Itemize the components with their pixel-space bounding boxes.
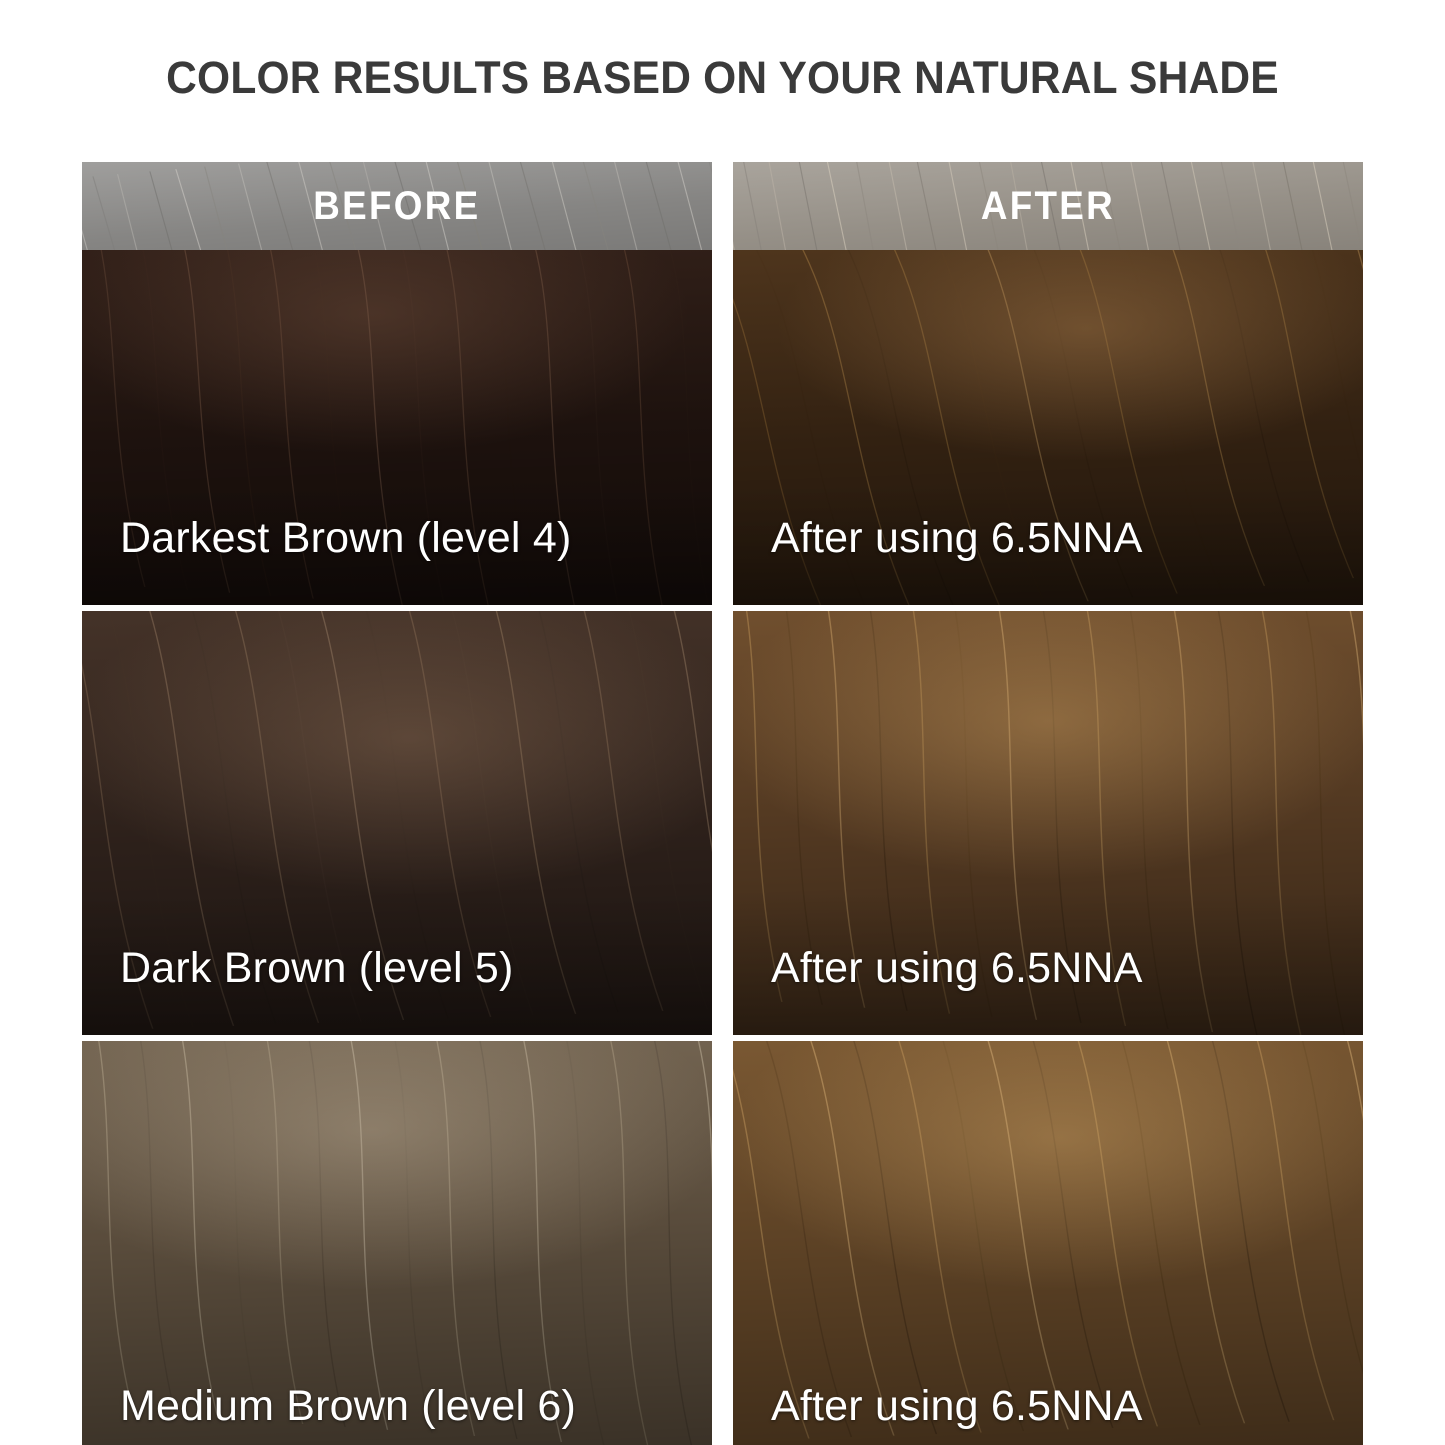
column-header-label-after: AFTER	[981, 184, 1115, 229]
column-header-label-before: BEFORE	[313, 184, 480, 229]
swatch-label-before-row3: Medium Brown (level 6)	[120, 1382, 576, 1431]
swatch-label-before-row1: Darkest Brown (level 4)	[120, 514, 571, 563]
swatch-before-row1: Darkest Brown (level 4)	[82, 250, 712, 605]
swatch-label-before-row2: Dark Brown (level 5)	[120, 944, 514, 993]
swatch-before-row2: Dark Brown (level 5)	[82, 611, 712, 1035]
page-title: COLOR RESULTS BASED ON YOUR NATURAL SHAD…	[40, 52, 1406, 104]
product-color-results-infographic: COLOR RESULTS BASED ON YOUR NATURAL SHAD…	[0, 0, 1445, 1445]
swatch-after-row3: After using 6.5NNA	[733, 1041, 1363, 1445]
column-header-after: AFTER	[733, 162, 1363, 250]
before-after-comparison-grid: BEFORE	[82, 162, 1363, 1445]
swatch-label-after-row2: After using 6.5NNA	[771, 944, 1143, 993]
column-header-before: BEFORE	[82, 162, 712, 250]
swatch-after-row2: After using 6.5NNA	[733, 611, 1363, 1035]
swatch-label-after-row3: After using 6.5NNA	[771, 1382, 1143, 1431]
swatch-before-row3: Medium Brown (level 6)	[82, 1041, 712, 1445]
column-before: BEFORE	[82, 162, 712, 1445]
swatch-after-row1: After using 6.5NNA	[733, 250, 1363, 605]
swatch-label-after-row1: After using 6.5NNA	[771, 514, 1143, 563]
column-after: AFTER	[733, 162, 1363, 1445]
